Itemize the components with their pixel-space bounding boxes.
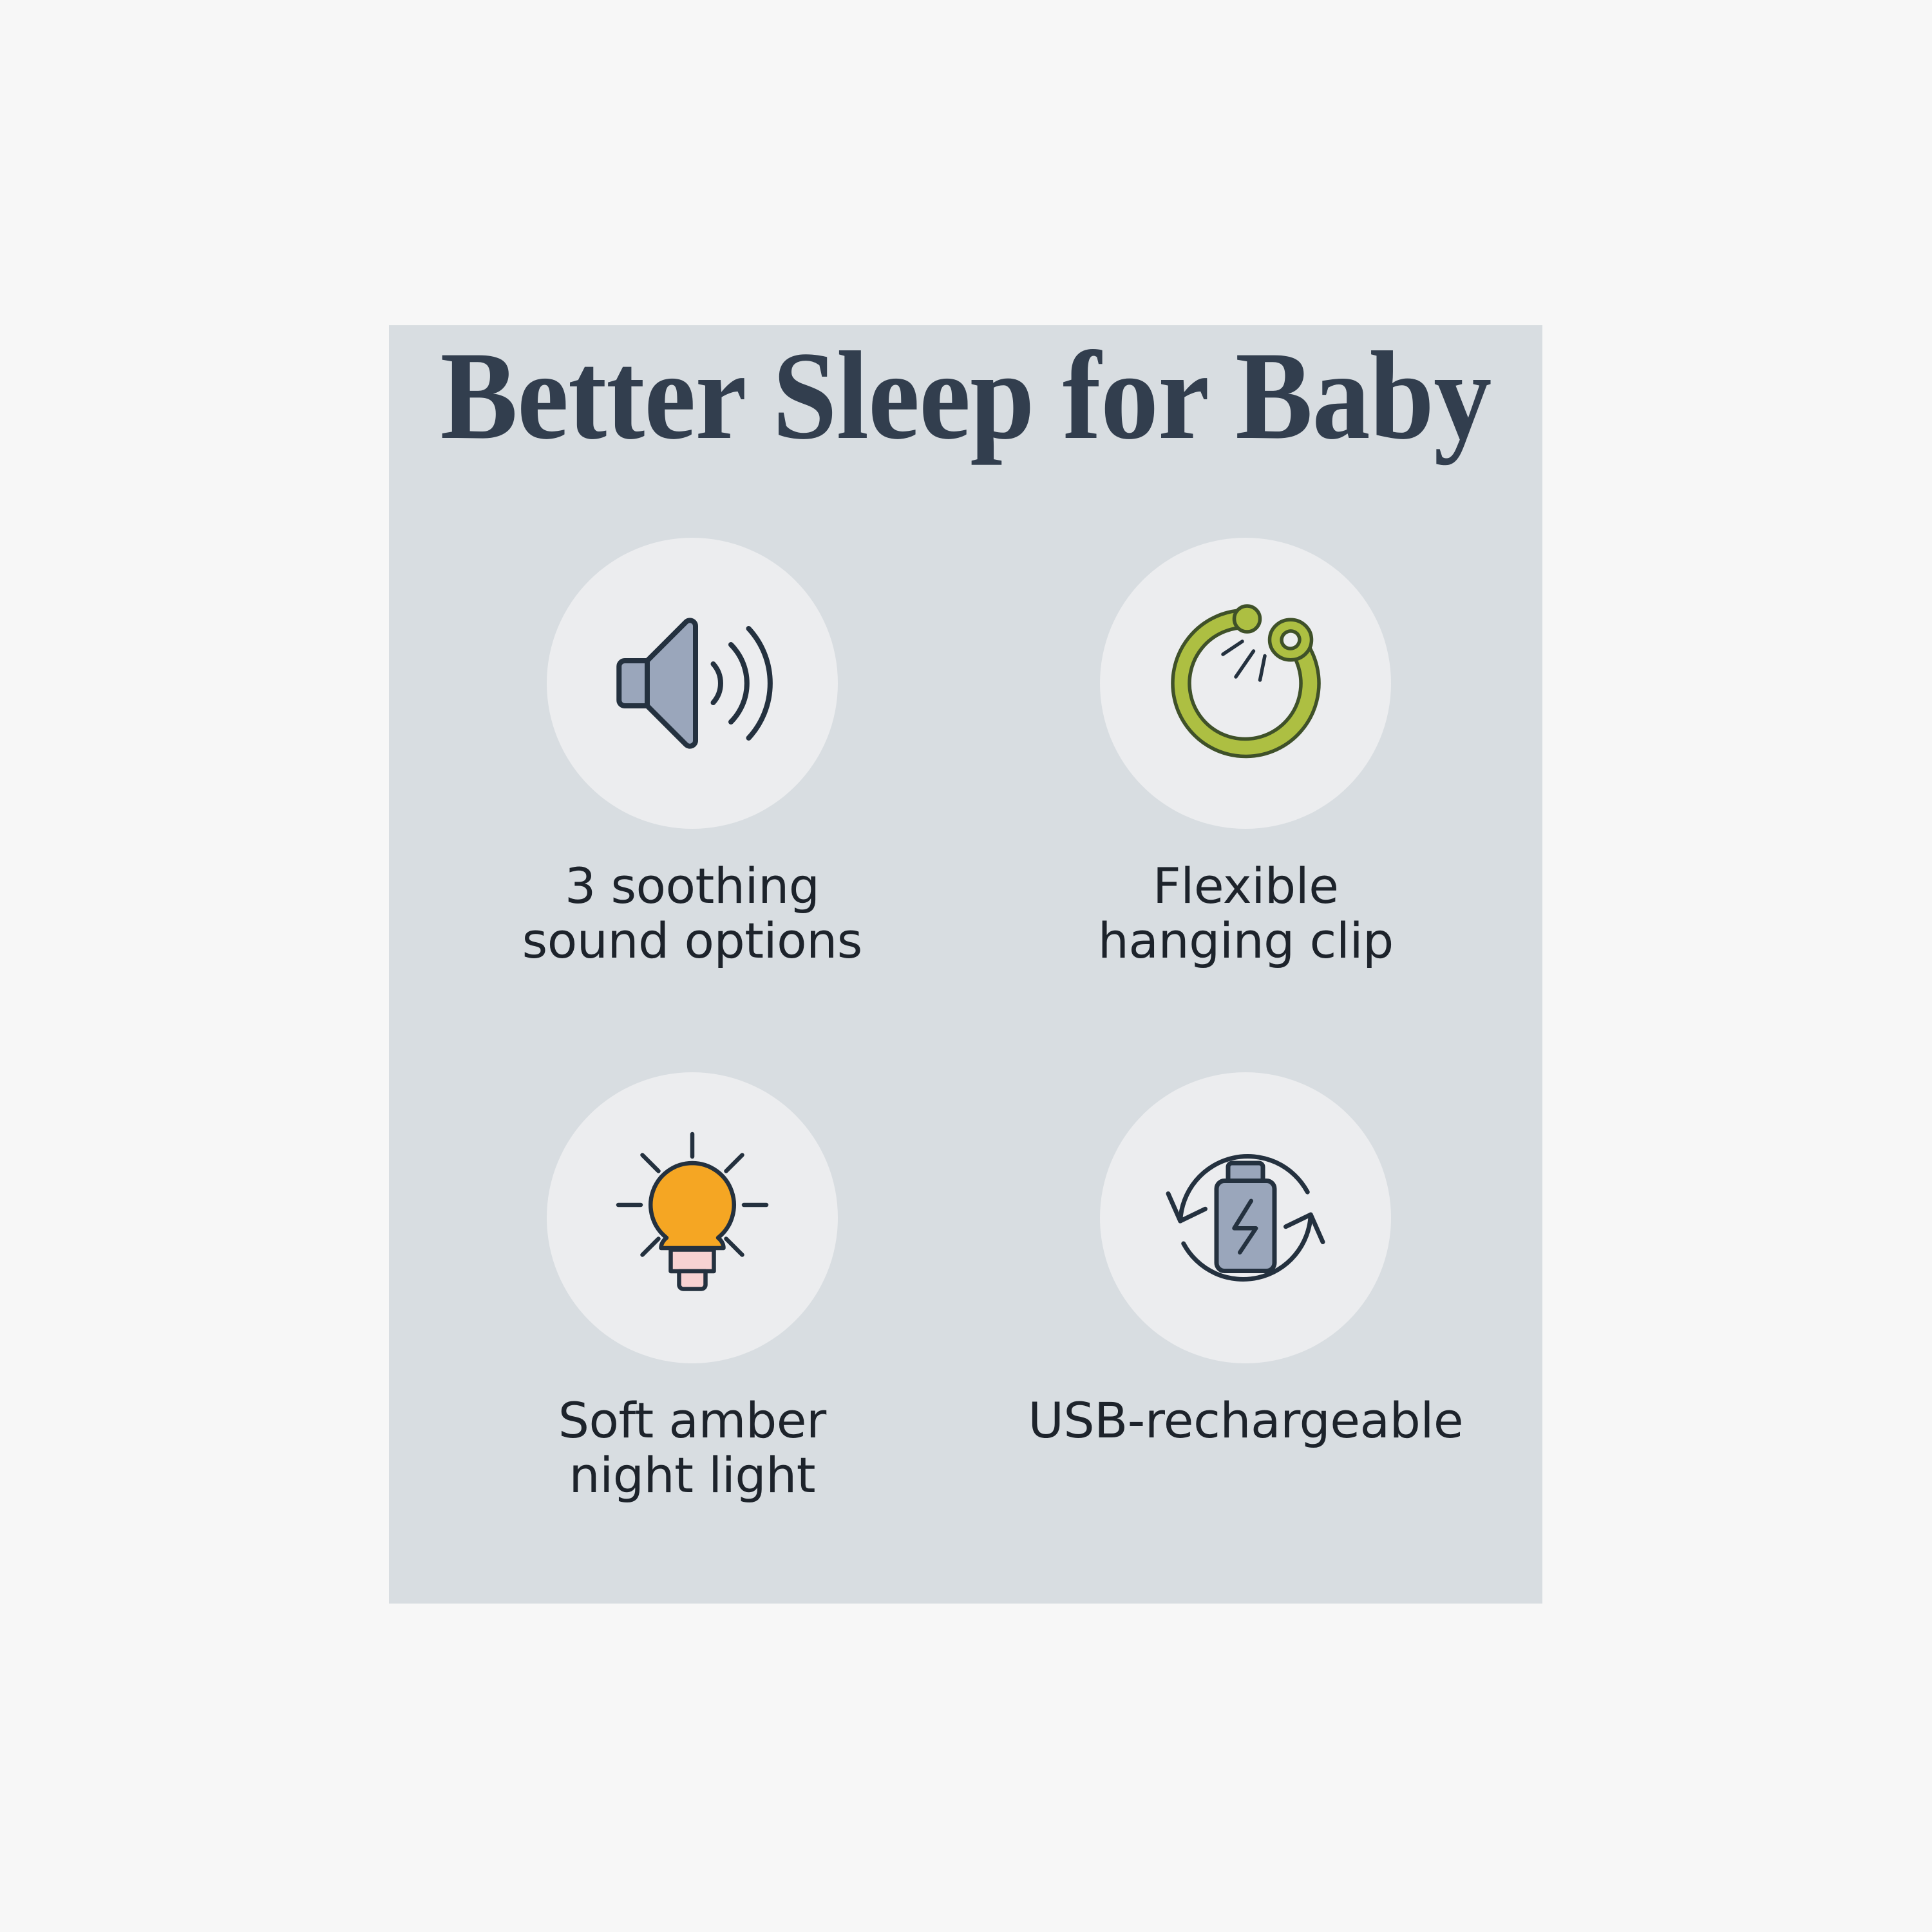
page-title: Better Sleep for Baby bbox=[435, 333, 1497, 459]
feature-label: Soft amber night light bbox=[558, 1393, 826, 1502]
icon-badge bbox=[1100, 538, 1391, 829]
feature-label: Flexible hanging clip bbox=[1098, 858, 1394, 968]
feature-item-sound-options: 3 soothing sound options bbox=[389, 538, 966, 968]
light-bulb-icon bbox=[596, 1121, 789, 1314]
screenshot-canvas: Better Sleep for Baby 3 soothi bbox=[0, 0, 1932, 1932]
flexible-clip-ring-icon bbox=[1149, 587, 1342, 780]
icon-badge bbox=[547, 538, 838, 829]
feature-panel: Better Sleep for Baby 3 soothi bbox=[389, 325, 1542, 1604]
icon-badge bbox=[547, 1072, 838, 1363]
feature-item-night-light: Soft amber night light bbox=[389, 1072, 966, 1502]
speaker-sound-waves-icon bbox=[596, 587, 789, 780]
feature-label: 3 soothing sound options bbox=[522, 858, 862, 968]
feature-item-hanging-clip: Flexible hanging clip bbox=[966, 538, 1543, 968]
feature-label: USB-rechargeable bbox=[1028, 1393, 1463, 1448]
battery-recharge-icon bbox=[1149, 1121, 1342, 1314]
feature-grid: 3 soothing sound options bbox=[389, 538, 1542, 1502]
icon-badge bbox=[1100, 1072, 1391, 1363]
feature-item-usb-rechargeable: USB-rechargeable bbox=[966, 1072, 1543, 1502]
